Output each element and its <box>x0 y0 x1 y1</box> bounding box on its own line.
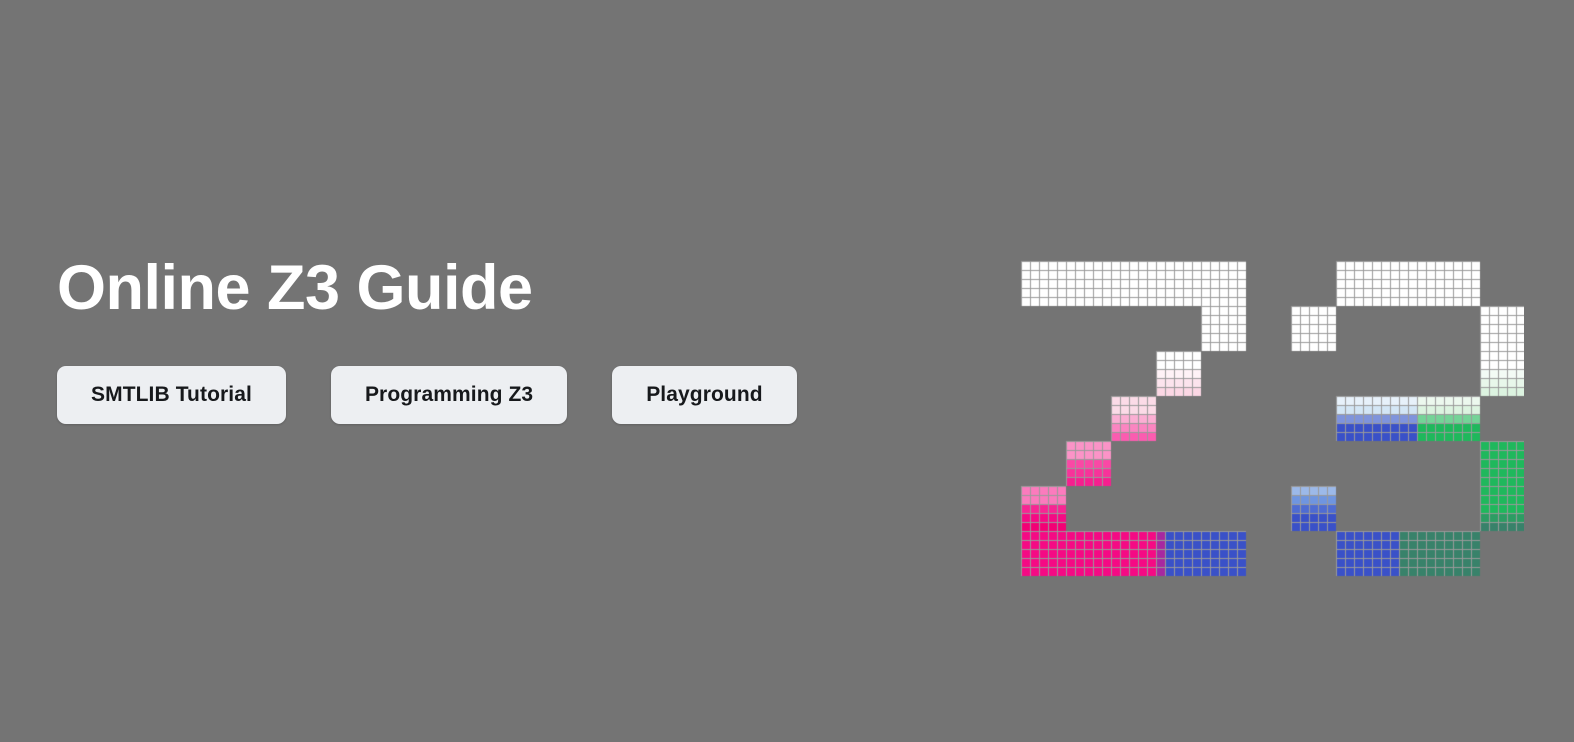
nav-button-row: SMTLIB Tutorial Programming Z3 Playgroun… <box>57 366 797 424</box>
smtlib-tutorial-button[interactable]: SMTLIB Tutorial <box>57 366 286 424</box>
programming-z3-button[interactable]: Programming Z3 <box>331 366 567 424</box>
playground-button[interactable]: Playground <box>612 366 797 424</box>
page-title: Online Z3 Guide <box>57 255 957 321</box>
page-root: Online Z3 Guide SMTLIB Tutorial Programm… <box>0 0 1574 742</box>
z3-pixel-logo <box>1014 254 1524 594</box>
z3-logo-canvas <box>1014 254 1524 594</box>
hero-section: Online Z3 Guide <box>57 255 957 321</box>
